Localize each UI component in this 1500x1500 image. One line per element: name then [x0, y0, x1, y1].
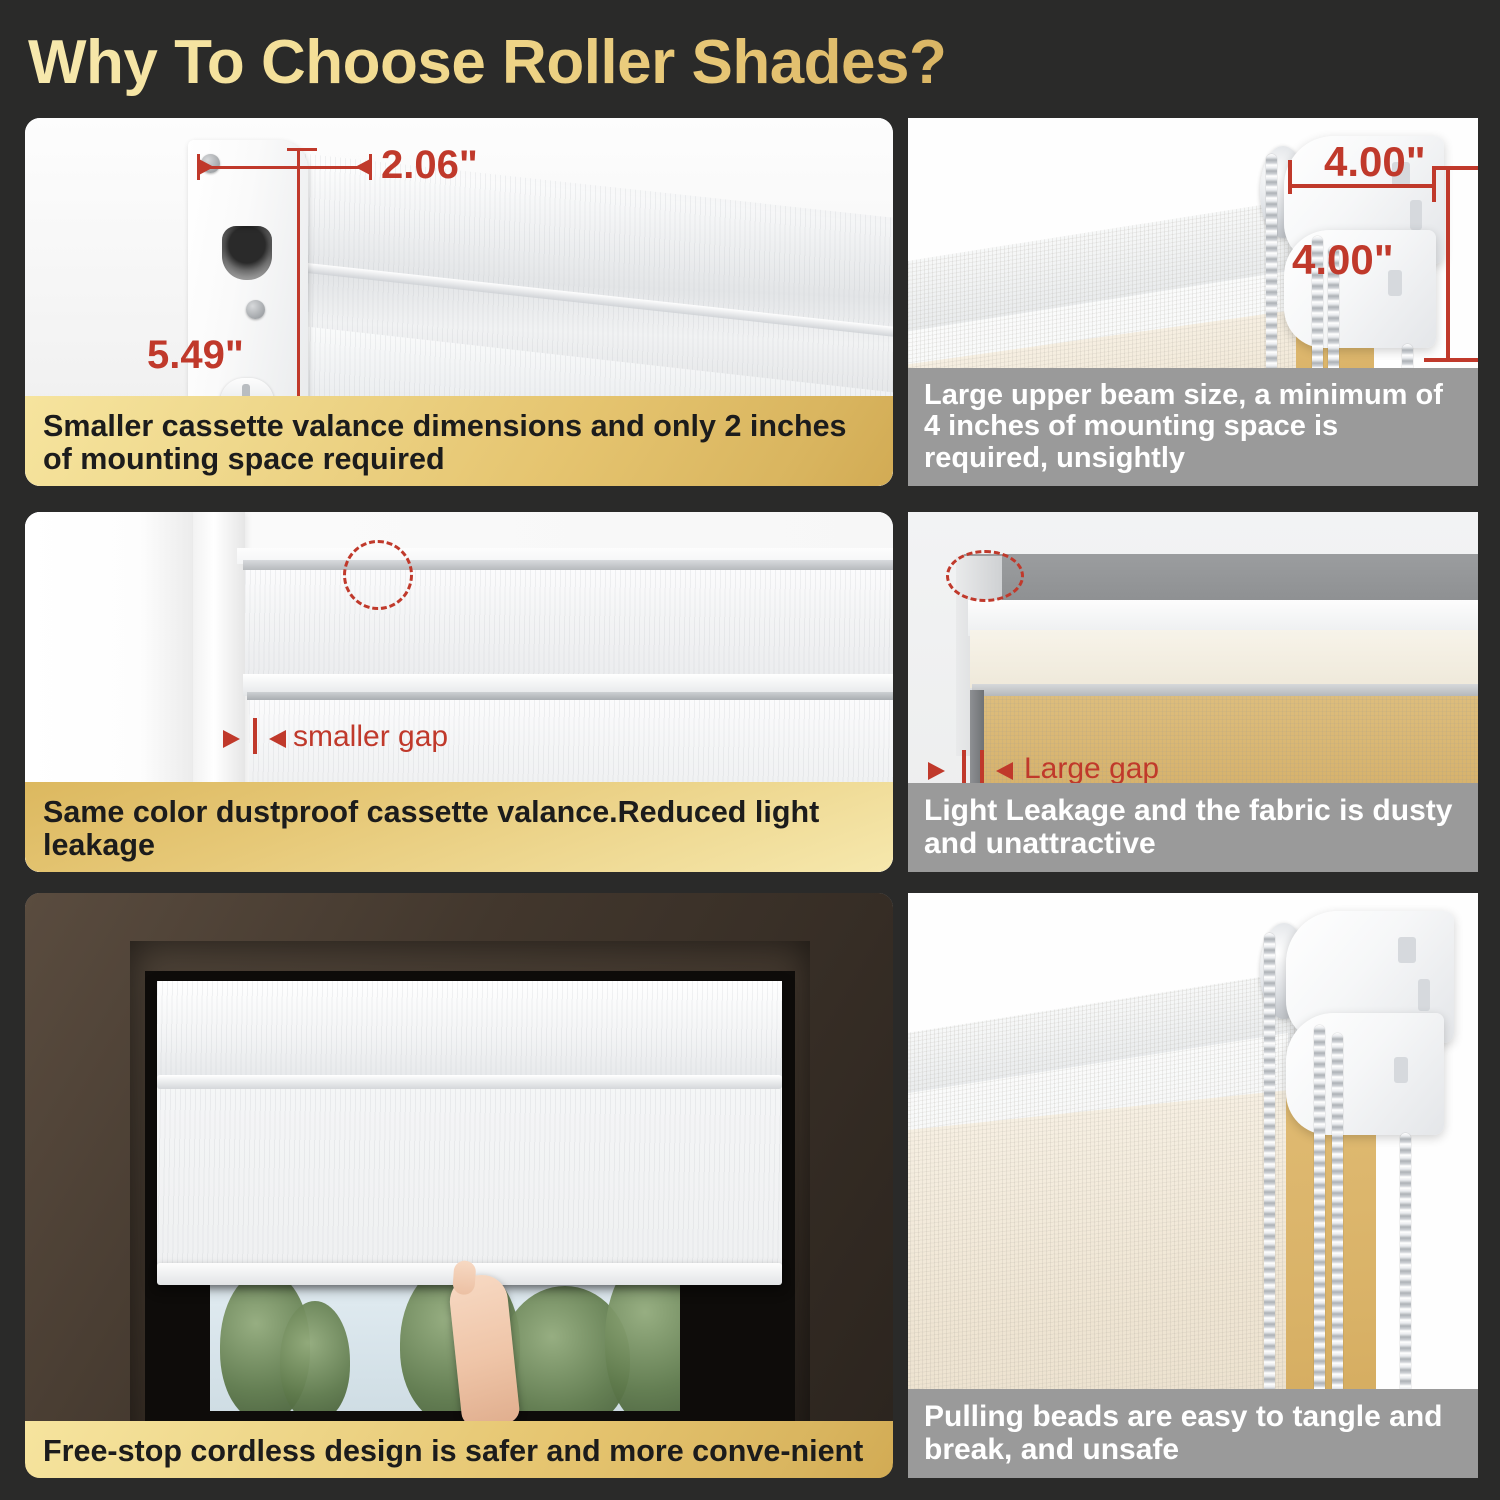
panel-smaller-cassette: 2.06" 5.49" Smaller cassette valance dim…	[25, 118, 893, 486]
bead-chain	[1332, 1033, 1343, 1403]
bead-chain	[1264, 933, 1275, 1403]
panel-light-leakage: Large gap Light Leakage and the fabric i…	[908, 512, 1478, 872]
panel-caption: Free-stop cordless design is safer and m…	[25, 1421, 893, 1478]
bead-chain	[1314, 1025, 1325, 1403]
width-dimension-label: 2.06"	[381, 143, 478, 188]
bead-chain	[1266, 154, 1277, 394]
height-dimension-line	[1446, 166, 1450, 362]
width-dimension-label: 4.00"	[1324, 138, 1426, 186]
gap-arrow-left	[928, 762, 945, 780]
panel-cordless-design: Free-stop cordless design is safer and m…	[25, 893, 893, 1478]
highlight-circle	[946, 550, 1024, 602]
gap-arrow-right	[996, 762, 1013, 780]
panel-dustproof-cassette: smaller gap Same color dustproof cassett…	[25, 512, 893, 872]
gap-label: Large gap	[1024, 752, 1159, 786]
bead-chain	[1400, 1133, 1411, 1403]
gap-arrow-left	[223, 730, 240, 748]
height-dimension-label: 5.49"	[147, 333, 244, 378]
panel-caption: Large upper beam size, a minimum of 4 in…	[908, 368, 1478, 486]
panel-caption: Smaller cassette valance dimensions and …	[25, 396, 893, 486]
panel-caption: Pulling beads are easy to tangle and bre…	[908, 1389, 1478, 1478]
panel-caption: Same color dustproof cassette valance.Re…	[25, 782, 893, 872]
panel-large-upper-beam: 4.00" 4.00" Large upper beam size, a min…	[908, 118, 1478, 486]
highlight-circle	[343, 540, 413, 610]
panel-pulling-beads: Pulling beads are easy to tangle and bre…	[908, 893, 1478, 1478]
gap-arrow-right	[269, 730, 286, 748]
width-dimension-line	[197, 166, 372, 169]
room-window-scene-photo	[25, 893, 893, 1478]
gap-label: smaller gap	[293, 720, 448, 754]
height-dimension-label: 4.00"	[1292, 236, 1394, 284]
page-title: Why To Choose Roller Shades?	[28, 24, 1228, 102]
panel-caption: Light Leakage and the fabric is dusty an…	[908, 783, 1478, 872]
